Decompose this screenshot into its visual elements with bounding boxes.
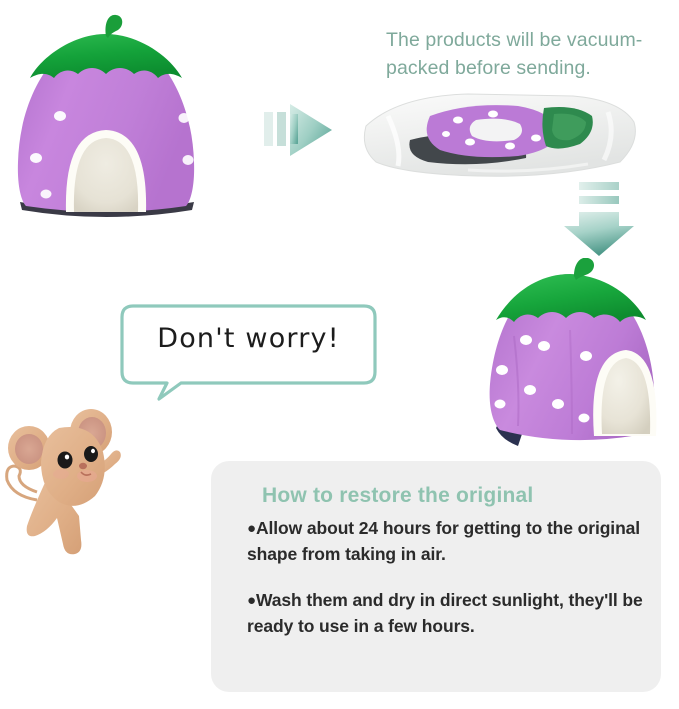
speech-bubble: Don't worry!	[119, 303, 378, 386]
instruction-bullet-2: ●Wash them and dry in direct sunlight, t…	[247, 588, 647, 638]
instruction-bullet-1: ●Allow about 24 hours for getting to the…	[247, 516, 647, 566]
bullet-dot-icon: ●	[247, 592, 256, 609]
arrow-down-icon	[562, 180, 638, 262]
strawberry-pet-bed-restored	[474, 258, 666, 454]
vacuum-packing-note: The products will be vacuum- packed befo…	[386, 26, 656, 82]
bed-after-illustration	[474, 258, 666, 454]
mouse-illustration	[3, 404, 129, 560]
bed-before-illustration	[6, 12, 206, 224]
bullet-dot-icon: ●	[247, 520, 256, 537]
strawberry-pet-bed-assembled	[6, 12, 206, 224]
arrow-down-glyph	[562, 180, 638, 262]
infographic-canvas: The products will be vacuum- packed befo…	[0, 0, 679, 709]
instruction-bullet-2-text: Wash them and dry in direct sunlight, th…	[247, 590, 643, 636]
panel-body: ●Allow about 24 hours for getting to the…	[247, 516, 647, 638]
arrow-right-icon	[262, 96, 340, 164]
panel-title: How to restore the original	[262, 484, 533, 508]
arrow-right-glyph	[262, 96, 340, 164]
instruction-bullet-1-text: Allow about 24 hours for getting to the …	[247, 518, 640, 564]
speech-bubble-text: Don't worry!	[119, 323, 378, 354]
mouse-mascot	[3, 404, 129, 560]
packed-bed-illustration	[358, 86, 642, 184]
vacuum-packed-bed	[358, 86, 642, 184]
restore-instructions-panel: How to restore the original ●Allow about…	[211, 461, 661, 692]
